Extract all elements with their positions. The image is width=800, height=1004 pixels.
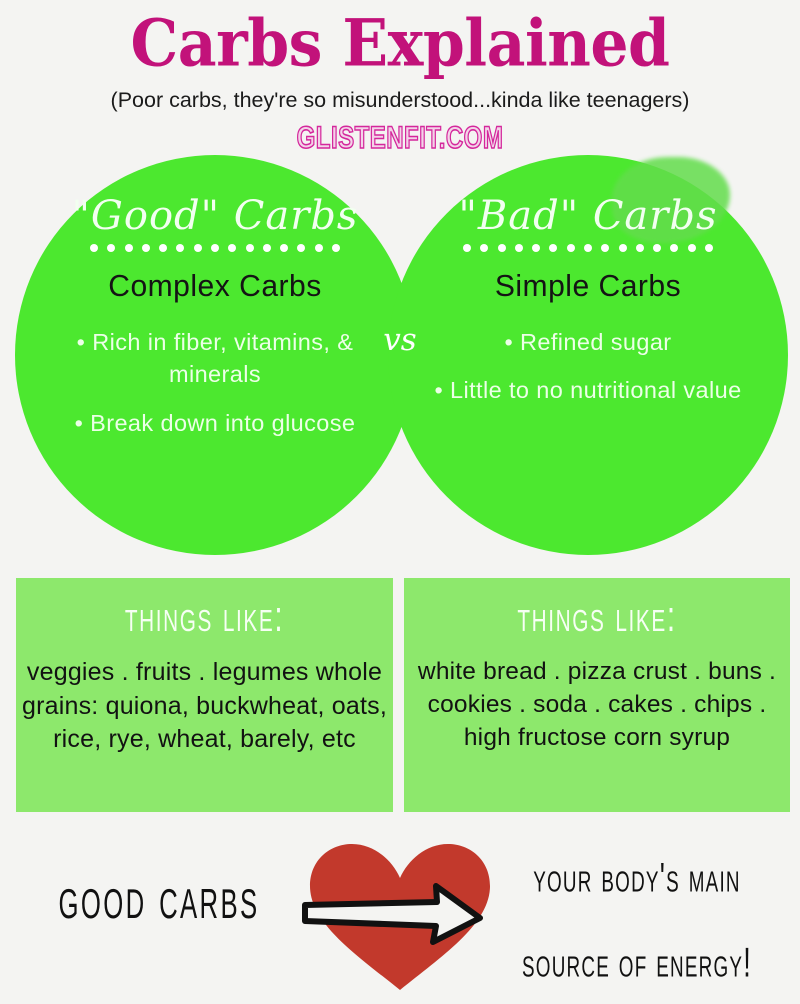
bad-examples-list: white bread . pizza crust . buns . cooki…	[404, 656, 790, 754]
good-examples-list: veggies . fruits . legumes whole grains:…	[16, 656, 393, 757]
good-carbs-bullet-1: • Rich in fiber, vitamins, & minerals	[29, 326, 401, 391]
footer-tagline: Your body's main source of energy!	[510, 835, 764, 1004]
good-carbs-heading: "Good" Carbs	[15, 195, 415, 237]
footer: Good Carbs Your body's main source of en…	[0, 830, 800, 1000]
bad-carbs-bullets: • Refined sugar • Little to no nutrition…	[388, 326, 788, 407]
good-carbs-bullets: • Rich in fiber, vitamins, & minerals • …	[15, 326, 415, 439]
page-title: Carbs Explained	[0, 12, 800, 77]
good-carbs-bullet-2: • Break down into glucose	[29, 407, 401, 439]
good-carbs-examples-panel: Things Like: veggies . fruits . legumes …	[16, 578, 393, 812]
complex-carbs-label: Complex Carbs	[21, 268, 409, 304]
footer-tagline-line-2: source of energy!	[510, 920, 764, 1004]
good-carbs-content: "Good" Carbs Complex Carbs • Rich in fib…	[15, 155, 415, 555]
bad-carbs-bullet-1: • Refined sugar	[402, 326, 774, 358]
simple-carbs-label: Simple Carbs	[394, 268, 782, 304]
footer-tagline-line-1: Your body's main	[510, 835, 764, 920]
bad-carbs-bullet-2: • Little to no nutritional value	[402, 374, 774, 406]
carbs-explained-infographic: Carbs Explained (Poor carbs, they're so …	[0, 0, 800, 1000]
bad-carbs-examples-panel: Things Like: white bread . pizza crust .…	[404, 578, 790, 812]
heart-arrow-graphic	[300, 838, 500, 998]
site-url-label: GLISTENFIT.COM	[56, 120, 744, 156]
examples-panels: Things Like: veggies . fruits . legumes …	[0, 578, 800, 814]
dot-divider-icon	[463, 243, 713, 252]
dot-divider-icon	[90, 243, 340, 252]
footer-good-carbs-label: Good Carbs	[46, 863, 272, 932]
bad-carbs-content: "Bad" Carbs Simple Carbs • Refined sugar…	[388, 155, 788, 555]
page-subtitle: (Poor carbs, they're so misunderstood...…	[0, 88, 800, 113]
bad-carbs-heading: "Bad" Carbs	[388, 195, 788, 237]
venn-diagram: "Good" Carbs Complex Carbs • Rich in fib…	[0, 155, 800, 557]
good-examples-title: Things Like:	[54, 592, 356, 642]
vs-label: vs	[368, 322, 432, 358]
bad-examples-title: Things Like:	[443, 592, 752, 642]
